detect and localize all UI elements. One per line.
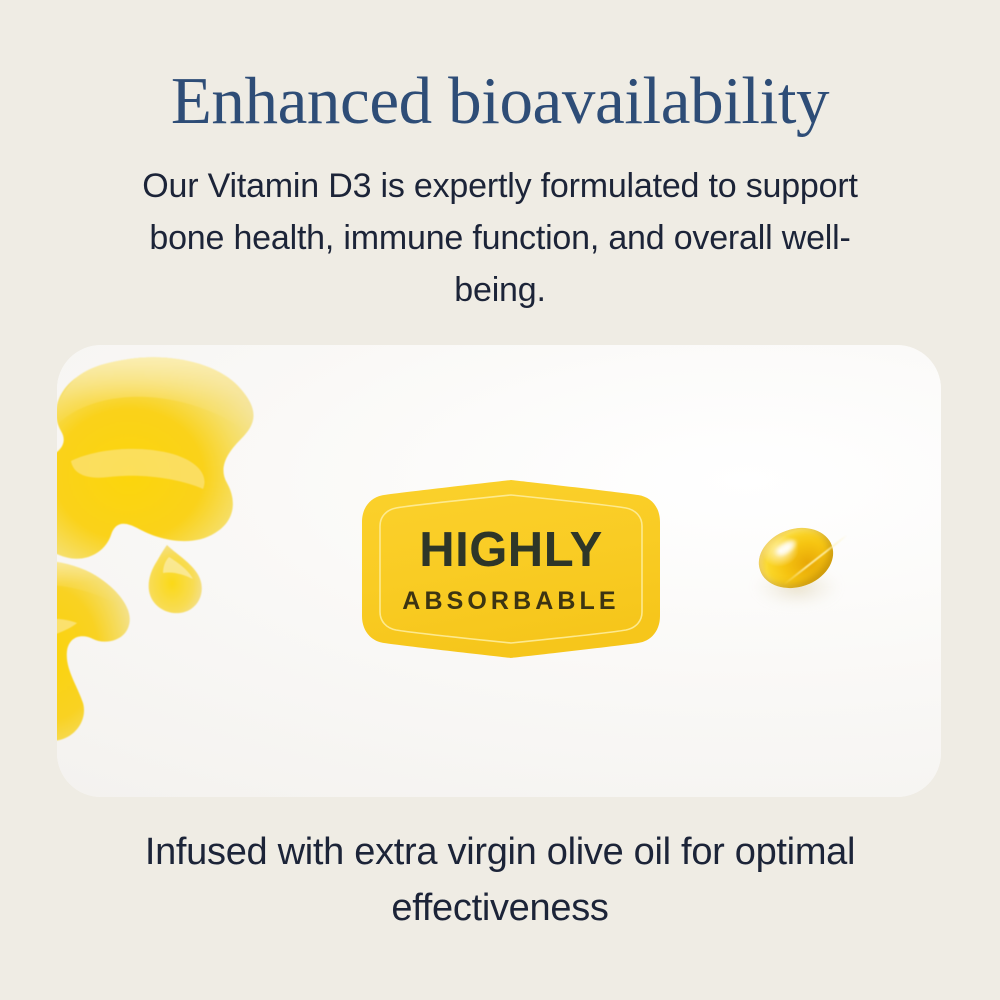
page-title: Enhanced bioavailability [0,62,1000,140]
caption-text: Infused with extra virgin olive oil for … [100,824,900,936]
olive-oil-splash-lower [57,553,237,743]
softgel-capsule [740,517,850,627]
softgel-highlight [772,534,801,560]
promo-panel: Enhanced bioavailability Our Vitamin D3 … [0,0,1000,1000]
product-photo-card: HIGHLY ABSORBABLE [57,345,941,797]
badge-shape-icon [360,478,662,660]
highly-absorbable-badge: HIGHLY ABSORBABLE [360,478,662,660]
subtitle-text: Our Vitamin D3 is expertly formulated to… [110,160,890,316]
